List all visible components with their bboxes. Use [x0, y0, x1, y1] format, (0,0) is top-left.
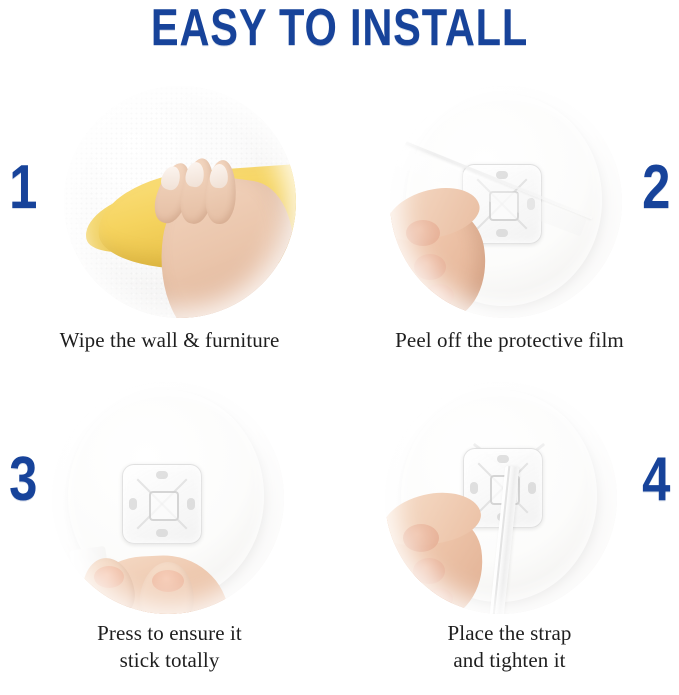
- caption-line-1: Wipe the wall & furniture: [60, 328, 280, 352]
- step-card-3: 3: [0, 374, 339, 684]
- step-number-1: 1: [9, 157, 37, 219]
- photo-vignette: [390, 86, 622, 318]
- caption-line-1: Press to ensure it: [97, 621, 242, 645]
- step-card-1: 1 Wipe the wall & furniture: [0, 62, 339, 372]
- step-number-3: 3: [9, 449, 37, 511]
- step-number-4: 4: [642, 449, 670, 511]
- step-number-2: 2: [642, 157, 670, 219]
- step-caption-2: Peel off the protective film: [340, 327, 679, 354]
- step-card-4: 4: [340, 374, 679, 684]
- step-photo-1: [64, 86, 296, 318]
- caption-line-2: and tighten it: [340, 647, 679, 674]
- photo-vignette: [64, 86, 296, 318]
- steps-grid: 1 Wipe the wall & furniture 2: [0, 62, 679, 695]
- page-title: EASY TO INSTALL: [68, 2, 611, 54]
- step-photo-3: [52, 382, 284, 614]
- photo-vignette: [52, 382, 284, 614]
- step-caption-1: Wipe the wall & furniture: [0, 327, 339, 354]
- install-instructions-infographic: EASY TO INSTALL 1 Wipe the wall & furnit…: [0, 0, 679, 695]
- caption-line-2: stick totally: [0, 647, 339, 674]
- caption-line-1: Peel off the protective film: [395, 328, 624, 352]
- step-caption-4: Place the strap and tighten it: [340, 620, 679, 674]
- step-caption-3: Press to ensure it stick totally: [0, 620, 339, 674]
- step-photo-4: [385, 382, 617, 614]
- step-photo-2: [390, 86, 622, 318]
- caption-line-1: Place the strap: [448, 621, 572, 645]
- step-card-2: 2: [340, 62, 679, 372]
- photo-vignette: [385, 382, 617, 614]
